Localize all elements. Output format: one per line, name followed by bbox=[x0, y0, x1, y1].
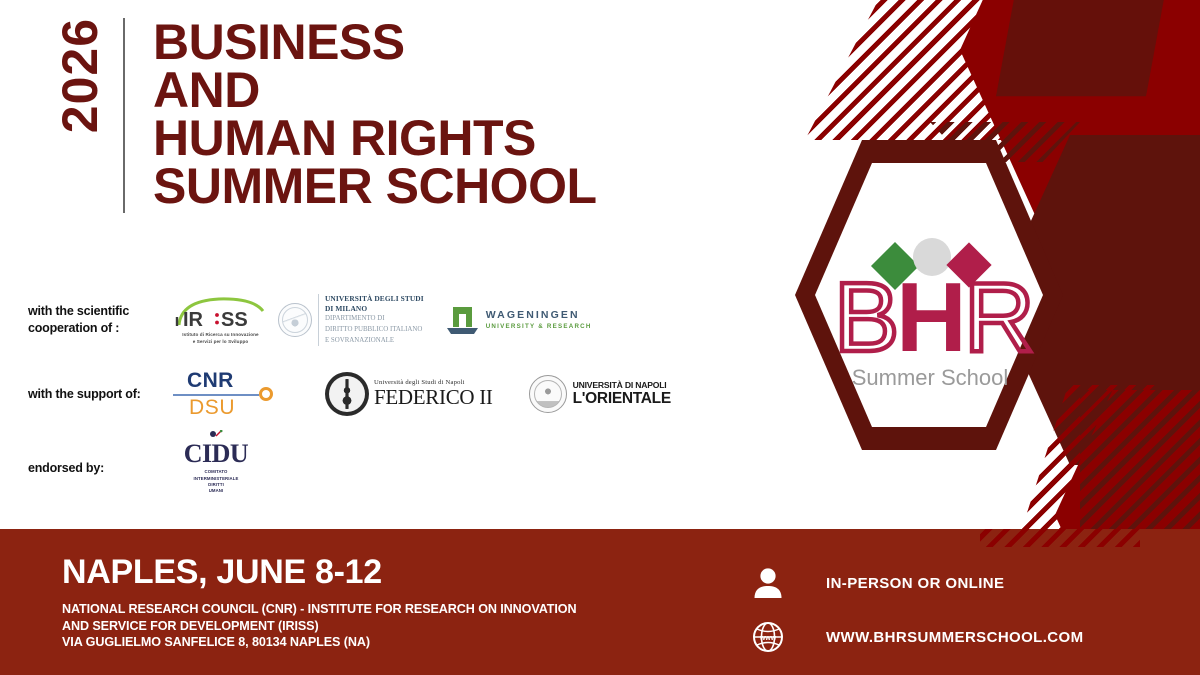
unimi-logo: UNIVERSITÀ DEGLI STUDI DI MILANO DIPARTI… bbox=[278, 294, 424, 346]
person-icon bbox=[748, 567, 788, 599]
headline-line-4: SUMMER SCHOOL bbox=[153, 162, 597, 210]
banner-diagonal-stripes bbox=[980, 529, 1140, 547]
address-line-2: AND SERVICE FOR DEVELOPMENT (IRISS) bbox=[62, 618, 576, 635]
logo-letter-b: B bbox=[834, 262, 899, 372]
partner-logos: IR SS Istituto di Ricerca su Innovazione… bbox=[173, 294, 592, 346]
unimi-line-4: DIRITTO PUBBLICO ITALIANO bbox=[325, 326, 424, 335]
partner-row-endorsed: endorsed by: CIDU COMITATO INTERMINISTE bbox=[28, 440, 748, 496]
partner-label-line-1: with the support of: bbox=[28, 386, 173, 403]
website-item[interactable]: www WWW.BHRSUMMERSCHOOL.COM bbox=[748, 621, 1084, 653]
federico-line-2: FEDERICO II bbox=[374, 387, 493, 408]
logo-letter-r: R bbox=[964, 262, 1035, 372]
bhr-logo: B H R Summer School bbox=[820, 235, 1040, 405]
partner-label-line-2: cooperation of : bbox=[28, 320, 173, 337]
orientale-logo: UNIVERSITÀ DI NAPOLI L'ORIENTALE bbox=[529, 375, 671, 413]
poster-canvas: B H R Summer School 2026 BUSINESS AND HU… bbox=[0, 0, 1200, 675]
cnr-line-1: CNR bbox=[187, 370, 234, 391]
cnr-dsu-logo: CNR DSU bbox=[173, 368, 283, 420]
address-line-1: NATIONAL RESEARCH COUNCIL (CNR) - INSTIT… bbox=[62, 601, 576, 618]
partner-label-line-1: with the scientific bbox=[28, 303, 173, 320]
headline-line-1: BUSINESS bbox=[153, 18, 597, 66]
iriss-subtitle-line-1: Istituto di Ricerca su Innovazione bbox=[173, 332, 268, 339]
wageningen-text: WAGENINGEN UNIVERSITY & RESEARCH bbox=[486, 310, 592, 330]
attendance-mode-item: IN-PERSON OR ONLINE bbox=[748, 567, 1084, 599]
partners-section: with the scientific cooperation of : IR … bbox=[28, 292, 748, 514]
unimi-line-1: UNIVERSITÀ DEGLI STUDI bbox=[325, 294, 424, 303]
headline: BUSINESS AND HUMAN RIGHTS SUMMER SCHOOL bbox=[153, 18, 597, 213]
partner-row-label: with the support of: bbox=[28, 386, 173, 403]
iriss-mark-icon: IR SS bbox=[173, 295, 268, 331]
svg-text:www: www bbox=[759, 635, 777, 642]
partner-logos: CNR DSU Università degli Studi di Napoli… bbox=[173, 368, 671, 420]
federico-ii-logo: Università degli Studi di Napoli FEDERIC… bbox=[325, 372, 493, 416]
headline-line-3: HUMAN RIGHTS bbox=[153, 114, 597, 162]
svg-text:IR: IR bbox=[183, 309, 204, 331]
cidu-figure-icon bbox=[207, 430, 223, 446]
federico-text: Università degli Studi di Napoli FEDERIC… bbox=[374, 380, 493, 409]
diagonal-stripes-bottom-dark bbox=[1080, 390, 1200, 550]
logo-letter-h: H bbox=[896, 262, 967, 372]
headline-line-2: AND bbox=[153, 66, 597, 114]
year-wrap: 2026 bbox=[55, 18, 125, 213]
cidu-sub-4: UMANI bbox=[173, 488, 259, 494]
wageningen-line-1: WAGENINGEN bbox=[486, 310, 592, 321]
unimi-line-2: DI MILANO bbox=[325, 304, 424, 313]
iriss-subtitle: Istituto di Ricerca su Innovazione e Ser… bbox=[173, 332, 268, 345]
orientale-text: UNIVERSITÀ DI NAPOLI L'ORIENTALE bbox=[573, 381, 671, 407]
venue-address: NATIONAL RESEARCH COUNCIL (CNR) - INSTIT… bbox=[62, 601, 576, 651]
partner-row-label: with the scientific cooperation of : bbox=[28, 303, 173, 337]
bottom-banner: NAPLES, JUNE 8-12 NATIONAL RESEARCH COUN… bbox=[0, 529, 1200, 675]
globe-icon: www bbox=[748, 621, 788, 653]
cnr-line-2: DSU bbox=[189, 397, 235, 418]
wageningen-line-2: UNIVERSITY & RESEARCH bbox=[486, 324, 592, 330]
orientale-seal-icon bbox=[529, 375, 567, 413]
event-location-date: NAPLES, JUNE 8-12 bbox=[62, 555, 576, 589]
orientale-line-2: L'ORIENTALE bbox=[573, 391, 671, 407]
cidu-subtitle: COMITATO INTERMINISTERIALE DIRITTI UMANI bbox=[173, 469, 259, 495]
logo-tagline: Summer School bbox=[852, 365, 1009, 390]
unimi-line-3: DIPARTIMENTO DI bbox=[325, 315, 424, 324]
title-block: 2026 BUSINESS AND HUMAN RIGHTS SUMMER SC… bbox=[55, 18, 597, 213]
unimi-crest-icon bbox=[278, 303, 312, 337]
iriss-subtitle-line-2: e Servizi per lo Sviluppo bbox=[173, 339, 268, 346]
cidu-logo: CIDU COMITATO INTERMINISTERIALE DIRITTI … bbox=[173, 441, 259, 495]
unimi-text: UNIVERSITÀ DEGLI STUDI DI MILANO DIPARTI… bbox=[318, 294, 424, 346]
cnr-dot-icon bbox=[259, 387, 273, 401]
unimi-line-5: E SOVRANAZIONALE bbox=[325, 337, 424, 346]
address-line-3: VIA GUGLIELMO SANFELICE 8, 80134 NAPLES … bbox=[62, 634, 576, 651]
attendance-mode-label: IN-PERSON OR ONLINE bbox=[826, 575, 1004, 592]
partner-row-support: with the support of: CNR DSU Università … bbox=[28, 366, 748, 422]
website-url[interactable]: WWW.BHRSUMMERSCHOOL.COM bbox=[826, 629, 1084, 646]
title-divider bbox=[123, 18, 125, 213]
year-label: 2026 bbox=[55, 18, 105, 141]
wageningen-mark-icon bbox=[446, 305, 479, 335]
iriss-logo: IR SS Istituto di Ricerca su Innovazione… bbox=[173, 295, 268, 345]
partner-row-scientific: with the scientific cooperation of : IR … bbox=[28, 292, 748, 348]
banner-right: IN-PERSON OR ONLINE www WWW.BHRSUMMERSCH… bbox=[748, 567, 1084, 675]
orientale-line-1: UNIVERSITÀ DI NAPOLI bbox=[573, 381, 671, 390]
svg-text:SS: SS bbox=[221, 309, 248, 331]
partner-label-line-1: endorsed by: bbox=[28, 460, 173, 477]
wageningen-logo: WAGENINGEN UNIVERSITY & RESEARCH bbox=[446, 305, 592, 335]
banner-left: NAPLES, JUNE 8-12 NATIONAL RESEARCH COUN… bbox=[62, 555, 576, 651]
partner-row-label: endorsed by: bbox=[28, 460, 173, 477]
federico-seal-icon bbox=[325, 372, 369, 416]
partner-logos: CIDU COMITATO INTERMINISTERIALE DIRITTI … bbox=[173, 441, 259, 495]
